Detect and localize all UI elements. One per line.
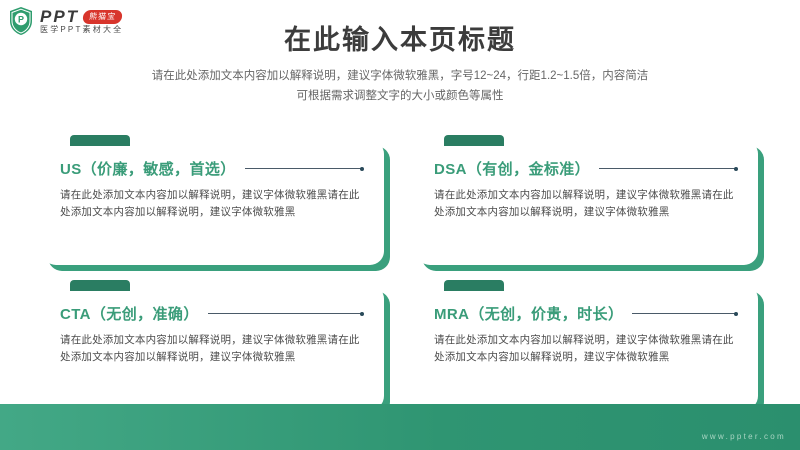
- card-row-top: US（价廉，敏感，首选） 请在此处添加文本内容加以解释说明，建议字体微软雅黑请在…: [42, 140, 758, 265]
- card-title: CTA（无创，准确）: [60, 303, 199, 324]
- page-subtitle: 请在此处添加文本内容加以解释说明，建议字体微软雅黑，字号12~24，行距1.2~…: [0, 66, 800, 106]
- rule-line: [632, 313, 735, 314]
- card-header: US（价廉，敏感，首选）: [60, 158, 366, 179]
- card-grid: US（价廉，敏感，首选） 请在此处添加文本内容加以解释说明，建议字体微软雅黑请在…: [42, 140, 758, 410]
- subtitle-line-1: 请在此处添加文本内容加以解释说明，建议字体微软雅黑，字号12~24，行距1.2~…: [0, 66, 800, 86]
- card-surface: DSA（有创，金标准） 请在此处添加文本内容加以解释说明，建议字体微软雅黑请在此…: [416, 140, 758, 265]
- card-body: 请在此处添加文本内容加以解释说明，建议字体微软雅黑请在此处添加文本内容加以解释说…: [60, 332, 366, 366]
- card-title: DSA（有创，金标准）: [434, 158, 590, 179]
- rule-dot-icon: [360, 312, 364, 316]
- footer-url: www.ppter.com: [702, 432, 786, 441]
- card-surface: US（价廉，敏感，首选） 请在此处添加文本内容加以解释说明，建议字体微软雅黑请在…: [42, 140, 384, 265]
- card-rule-decoration: [245, 167, 364, 171]
- footer-bar: www.ppter.com: [0, 404, 800, 450]
- card-tab-accent: [444, 135, 504, 146]
- card-header: DSA（有创，金标准）: [434, 158, 740, 179]
- card-body: 请在此处添加文本内容加以解释说明，建议字体微软雅黑请在此处添加文本内容加以解释说…: [434, 187, 740, 221]
- rule-line: [245, 168, 361, 169]
- card-header: MRA（无创，价贵，时长）: [434, 303, 740, 324]
- rule-line: [599, 168, 735, 169]
- rule-line: [208, 313, 361, 314]
- card-rule-decoration: [632, 312, 738, 316]
- rule-dot-icon: [360, 167, 364, 171]
- card-tab-accent: [70, 280, 130, 291]
- card-mra[interactable]: MRA（无创，价贵，时长） 请在此处添加文本内容加以解释说明，建议字体微软雅黑请…: [416, 285, 758, 410]
- rule-dot-icon: [734, 167, 738, 171]
- card-surface: MRA（无创，价贵，时长） 请在此处添加文本内容加以解释说明，建议字体微软雅黑请…: [416, 285, 758, 410]
- card-row-bottom: CTA（无创，准确） 请在此处添加文本内容加以解释说明，建议字体微软雅黑请在此处…: [42, 285, 758, 410]
- card-header: CTA（无创，准确）: [60, 303, 366, 324]
- card-rule-decoration: [208, 312, 364, 316]
- slide-canvas: P PPT 熊猫宝 医学PPT素材大全 在此输入本页标题 请在此处添加文本内容加…: [0, 0, 800, 450]
- card-title: US（价廉，敏感，首选）: [60, 158, 236, 179]
- card-tab-accent: [444, 280, 504, 291]
- subtitle-line-2: 可根据需求调整文字的大小或颜色等属性: [0, 86, 800, 106]
- card-surface: CTA（无创，准确） 请在此处添加文本内容加以解释说明，建议字体微软雅黑请在此处…: [42, 285, 384, 410]
- card-rule-decoration: [599, 167, 738, 171]
- card-body: 请在此处添加文本内容加以解释说明，建议字体微软雅黑请在此处添加文本内容加以解释说…: [434, 332, 740, 366]
- card-dsa[interactable]: DSA（有创，金标准） 请在此处添加文本内容加以解释说明，建议字体微软雅黑请在此…: [416, 140, 758, 265]
- rule-dot-icon: [734, 312, 738, 316]
- page-title: 在此输入本页标题: [0, 18, 800, 57]
- card-body: 请在此处添加文本内容加以解释说明，建议字体微软雅黑请在此处添加文本内容加以解释说…: [60, 187, 366, 221]
- card-cta[interactable]: CTA（无创，准确） 请在此处添加文本内容加以解释说明，建议字体微软雅黑请在此处…: [42, 285, 384, 410]
- card-us[interactable]: US（价廉，敏感，首选） 请在此处添加文本内容加以解释说明，建议字体微软雅黑请在…: [42, 140, 384, 265]
- card-title: MRA（无创，价贵，时长）: [434, 303, 623, 324]
- card-tab-accent: [70, 135, 130, 146]
